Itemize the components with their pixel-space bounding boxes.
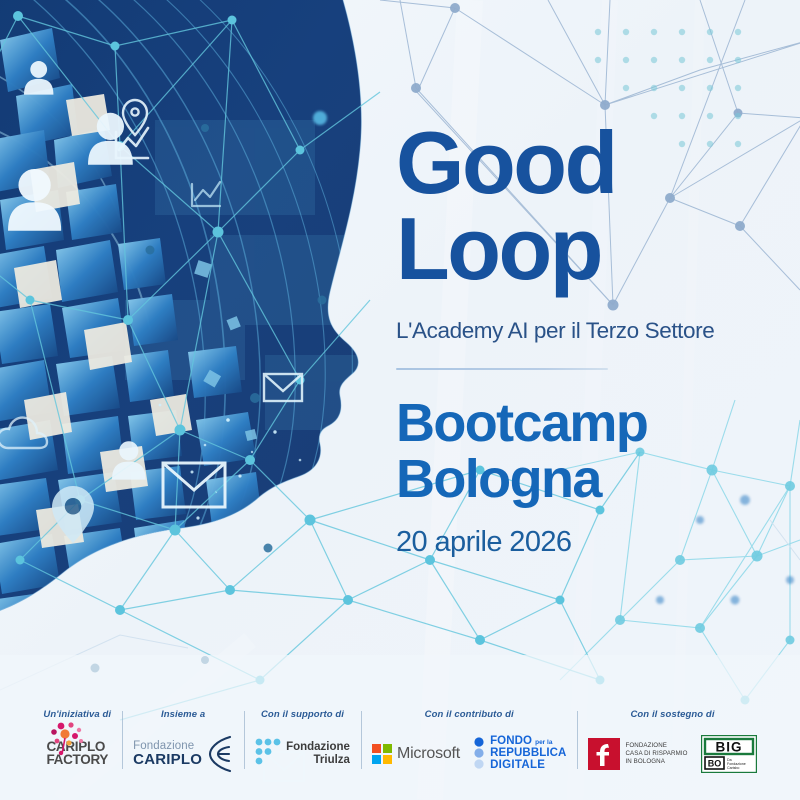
poster-canvas: Good Loop L'Academy AI per il Terzo Sett…: [0, 0, 800, 800]
page-title: Good Loop: [396, 120, 786, 292]
group-label: Con il sostegno di: [630, 709, 714, 720]
group-label: Un'iniziativa di: [43, 709, 111, 720]
carisbo-line1: FONDAZIONE: [625, 742, 687, 750]
fondazione-carisbo-logo[interactable]: FONDAZIONE CASA DI RISPARMIO IN BOLOGNA: [588, 738, 687, 770]
sponsor-group-support: Con il supporto di Fondazione Triulza: [244, 709, 361, 774]
title-line-2: Loop: [396, 206, 786, 292]
fondazione-cariplo-wordmark: Fondazione CARIPLO: [133, 741, 202, 768]
frd-line1-small: per la: [535, 740, 552, 747]
microsoft-logo[interactable]: Microsoft: [372, 744, 460, 764]
carisbo-f-mark-icon: [588, 738, 620, 770]
triulza-dots-icon: [255, 737, 281, 771]
triulza-line1: Fondazione: [286, 741, 350, 754]
carisbo-wordmark: FONDAZIONE CASA DI RISPARMIO IN BOLOGNA: [625, 742, 687, 766]
logo-row: Microsoft FONDO per la REPUBBLICA: [372, 734, 567, 774]
svg-text:BIG: BIG: [715, 740, 742, 755]
big-bo-mark-icon: BIG BO Da Fondazione Carisbo: [701, 735, 757, 773]
sponsor-footer: Un'iniziativa di: [0, 709, 800, 774]
frd-wordmark: FONDO per la REPUBBLICA DIGITALE: [490, 736, 566, 772]
microsoft-wordmark: Microsoft: [397, 745, 460, 763]
carisbo-line3: IN BOLOGNA: [625, 758, 687, 766]
logo-row: Fondazione Triulza: [255, 734, 350, 774]
sponsor-group-initiative: Un'iniziativa di: [32, 709, 122, 774]
hero-content: Good Loop L'Academy AI per il Terzo Sett…: [396, 120, 786, 559]
triulza-wordmark: Fondazione Triulza: [286, 741, 350, 767]
group-label: Con il supporto di: [261, 709, 344, 720]
sponsor-group-sustain: Con il sostegno di FONDAZIONE CASA DI RI…: [577, 709, 767, 774]
sponsor-group-partner: Insieme a Fondazione CARIPLO: [122, 709, 244, 774]
group-label: Insieme a: [161, 709, 205, 720]
triulza-line2: Triulza: [286, 754, 350, 767]
fondazione-triulza-logo[interactable]: Fondazione Triulza: [255, 737, 350, 771]
cariplo-factory-molecule-icon: [48, 722, 88, 756]
event-title: Bootcamp Bologna: [396, 396, 786, 507]
cariplo-swirl-icon: [207, 735, 233, 773]
logo-row: CARIPLO FACTORY: [46, 734, 108, 774]
group-label: Con il contributo di: [425, 709, 514, 720]
cariplo-factory-logo[interactable]: CARIPLO FACTORY: [46, 741, 108, 767]
svg-text:BO: BO: [707, 759, 721, 769]
logo-row: FONDAZIONE CASA DI RISPARMIO IN BOLOGNA …: [588, 734, 756, 774]
divider-rule: [396, 368, 608, 370]
frd-dots-icon: [473, 737, 485, 771]
sponsor-group-contribution: Con il contributo di Microsoft: [361, 709, 578, 774]
fondo-repubblica-digitale-logo[interactable]: FONDO per la REPUBBLICA DIGITALE: [473, 736, 566, 772]
microsoft-squares-icon: [372, 744, 392, 764]
fondazione-cariplo-line2: CARIPLO: [133, 752, 202, 767]
fondazione-cariplo-logo[interactable]: Fondazione CARIPLO: [133, 735, 233, 773]
logo-row: Fondazione CARIPLO: [133, 734, 233, 774]
event-line-1: Bootcamp: [396, 396, 786, 452]
big-bo-logo[interactable]: BIG BO Da Fondazione Carisbo: [701, 735, 757, 773]
carisbo-line2: CASA DI RISPARMIO: [625, 750, 687, 758]
subtitle: L'Academy AI per il Terzo Settore: [396, 318, 786, 344]
frd-line3: DIGITALE: [490, 760, 566, 772]
title-line-1: Good: [396, 120, 786, 206]
event-date: 20 aprile 2026: [396, 526, 786, 559]
svg-text:Carisbo: Carisbo: [727, 766, 739, 770]
event-line-2: Bologna: [396, 452, 786, 508]
